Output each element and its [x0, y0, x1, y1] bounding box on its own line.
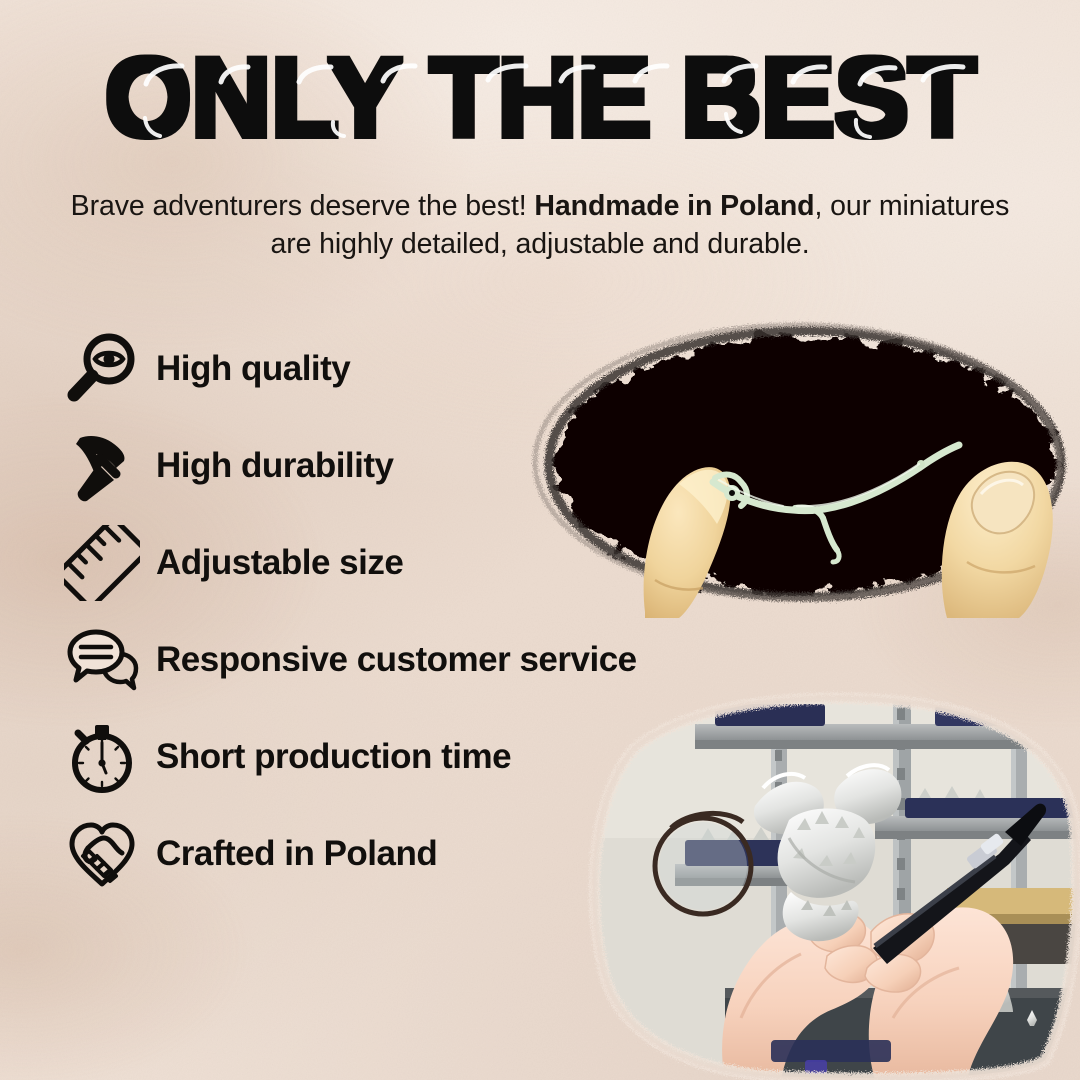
headline-text: ONLY THE BEST — [105, 40, 976, 160]
feature-item-customer-service[interactable]: Responsive customer service — [62, 611, 822, 708]
feature-label: Adjustable size — [156, 543, 403, 583]
feature-item-high-durability[interactable]: High durability — [62, 417, 822, 514]
hammer-icon — [62, 426, 142, 506]
subtitle-lead: Brave adventurers deserve the best! — [71, 190, 535, 222]
stopwatch-icon — [62, 717, 142, 797]
feature-item-production-time[interactable]: Short production time — [62, 708, 822, 805]
speech-bubbles-icon — [62, 620, 142, 700]
subtitle-emphasis: Handmade in Poland — [534, 190, 814, 222]
poster-canvas: ONLY THE BEST — [0, 0, 1080, 1080]
headline: ONLY THE BEST — [0, 38, 1080, 168]
feature-label: High durability — [156, 446, 394, 486]
feature-label: High quality — [156, 349, 350, 389]
subtitle: Brave adventurers deserve the best! Hand… — [60, 188, 1020, 263]
magnifier-eye-icon — [62, 329, 142, 409]
feature-label: Short production time — [156, 737, 511, 777]
feature-label: Crafted in Poland — [156, 834, 437, 874]
ruler-icon — [62, 523, 142, 603]
feature-item-adjustable-size[interactable]: Adjustable size — [62, 514, 822, 611]
heart-handshake-icon — [62, 814, 142, 894]
feature-label: Responsive customer service — [156, 640, 637, 680]
feature-item-high-quality[interactable]: High quality — [62, 320, 822, 417]
feature-list: High quality High durability — [62, 320, 822, 902]
feature-item-crafted-in-poland[interactable]: Crafted in Poland — [62, 805, 822, 902]
headline-svg: ONLY THE BEST — [90, 40, 990, 166]
